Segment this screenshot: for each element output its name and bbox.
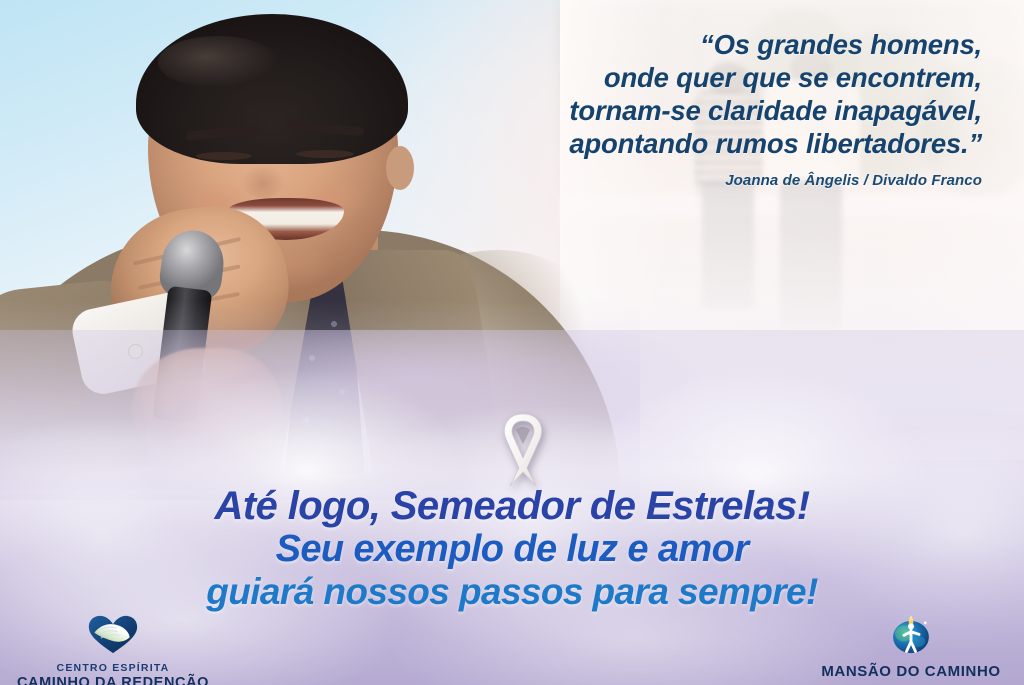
portrait-hair [136, 14, 408, 164]
headline-block: Até logo, Semeador de Estrelas! Seu exem… [0, 484, 1024, 613]
portrait-eye-right [296, 150, 354, 158]
quote-line-3: tornam-se claridade inapagável, [442, 94, 982, 127]
globe-with-figure-and-flame-icon [806, 612, 1016, 660]
logo-left-line-2: CAMINHO DA REDENÇÃO [8, 675, 218, 685]
quote-line-2: onde quer que se encontrem, [442, 61, 982, 94]
portrait-nose [238, 150, 288, 198]
headline-line-2: Seu exemplo de luz e amor [0, 528, 1024, 571]
headline-line-3: guiará nossos passos para sempre! [0, 571, 1024, 613]
portrait-ear [386, 146, 414, 190]
heart-with-hand-icon [8, 614, 218, 660]
headline-line-1: Até logo, Semeador de Estrelas! [0, 484, 1024, 528]
memorial-poster: “Os grandes homens, onde quer que se enc… [0, 0, 1024, 685]
quote-block: “Os grandes homens, onde quer que se enc… [442, 28, 982, 189]
white-mourning-ribbon-icon [489, 408, 557, 490]
logo-left-line-1: CENTRO ESPÍRITA [8, 662, 218, 674]
quote-line-4: apontando rumos libertadores.” [442, 127, 982, 160]
logo-centro-espirita-caminho-da-redencao: CENTRO ESPÍRITA CAMINHO DA REDENÇÃO [8, 614, 218, 685]
logo-right-line-1: MANSÃO DO CAMINHO [806, 663, 1016, 680]
logo-mansao-do-caminho: MANSÃO DO CAMINHO [806, 612, 1016, 680]
quote-author: Joanna de Ângelis / Divaldo Franco [442, 172, 982, 189]
quote-line-1: “Os grandes homens, [442, 28, 982, 61]
